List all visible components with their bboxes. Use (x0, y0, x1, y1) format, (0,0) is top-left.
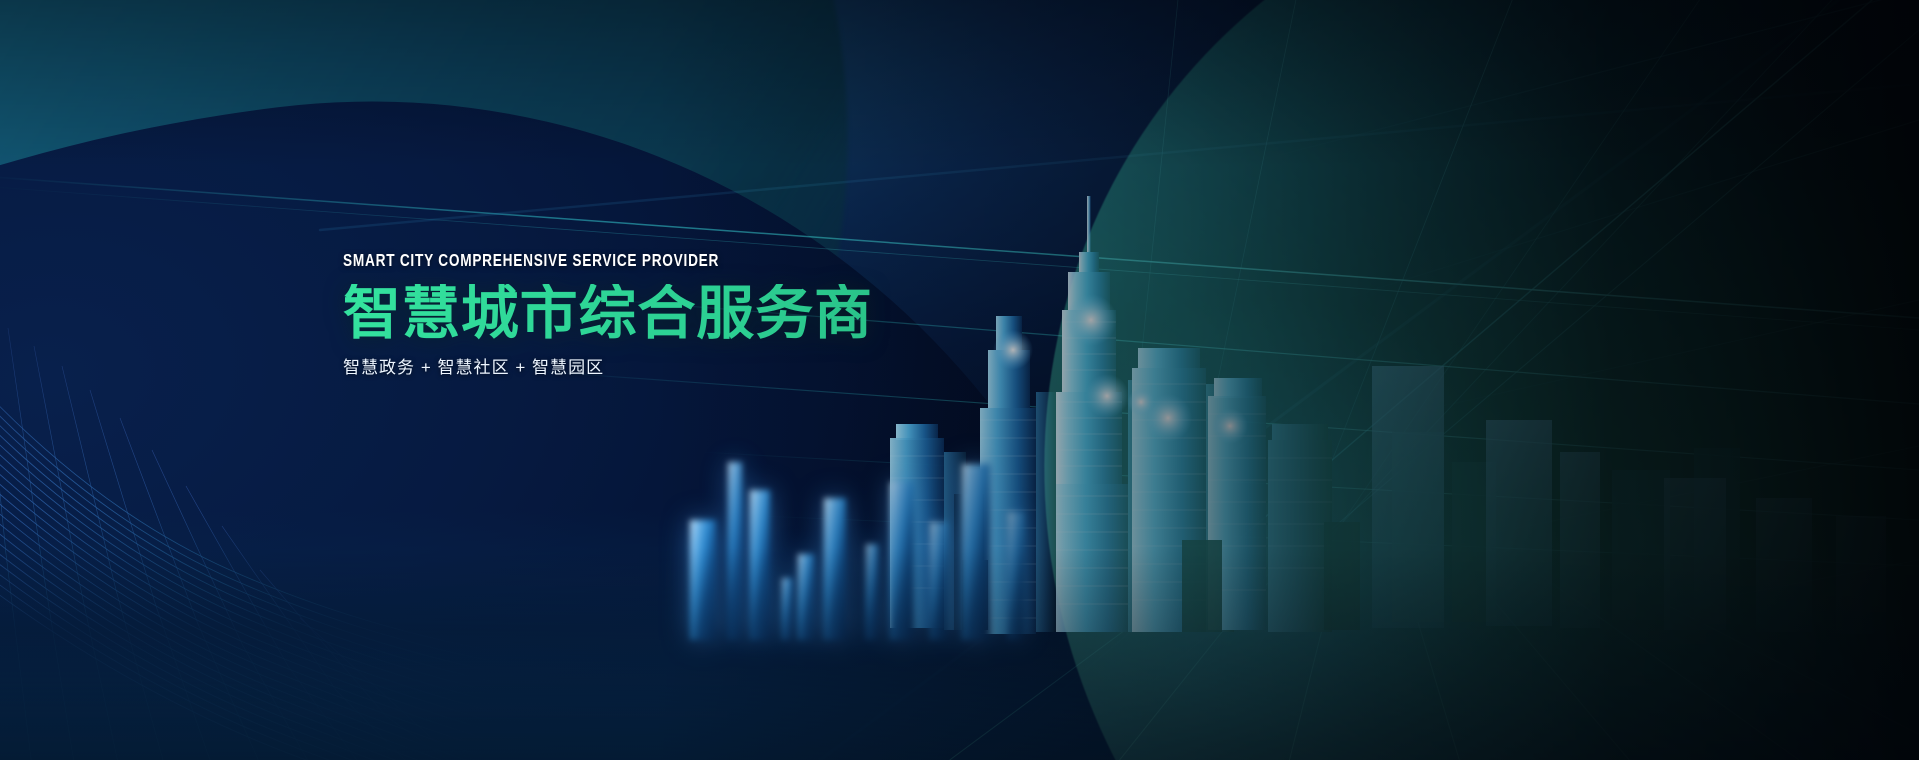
smart-city-hero-banner: SMART CITY COMPREHENSIVE SERVICE PROVIDE… (0, 0, 1919, 760)
edge-vignette (0, 0, 1919, 760)
hero-headline: 智慧城市综合服务商 (343, 284, 983, 343)
hero-eyebrow: SMART CITY COMPREHENSIVE SERVICE PROVIDE… (343, 252, 842, 270)
hero-copy-block: SMART CITY COMPREHENSIVE SERVICE PROVIDE… (343, 252, 983, 376)
hero-subline: 智慧政务 + 智慧社区 + 智慧园区 (343, 359, 983, 376)
